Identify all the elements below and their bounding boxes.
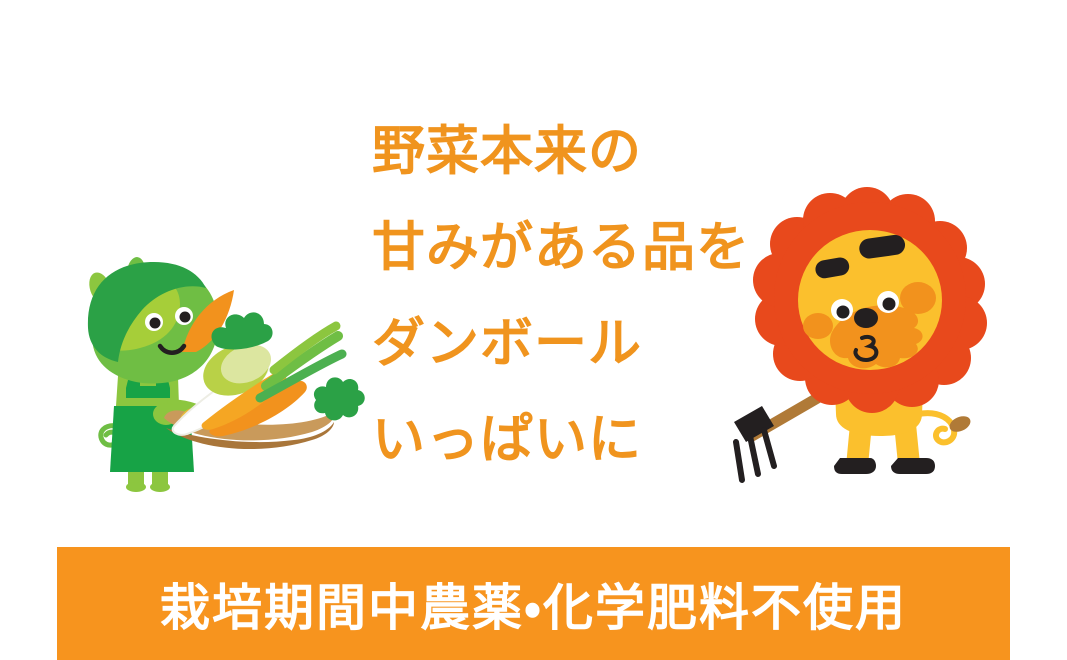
headline-line-2: 甘みがある品を: [372, 200, 792, 296]
bottom-banner: 栽培期間中農薬・化学肥料不使用: [57, 547, 1010, 660]
rhino-foot-left: [126, 482, 146, 492]
lion-boot-right: [891, 458, 935, 474]
lion-tail-tuft: [947, 413, 973, 435]
rhino-svg: [70, 250, 370, 500]
lion-pupil-left: [837, 306, 850, 319]
lion-cheek-left: [803, 313, 833, 339]
lion-boot-left: [834, 458, 876, 474]
rhino-pupil-right: [180, 312, 191, 323]
lion-tail: [918, 413, 954, 442]
headline-line-4: いっぱいに: [372, 392, 792, 488]
lion-nose: [854, 308, 878, 328]
headline-line-1: 野菜本来の: [372, 104, 792, 200]
rhino-foot-right: [150, 482, 170, 492]
headline-line-3: ダンボール: [372, 296, 792, 392]
headline-block: 野菜本来の 甘みがある品を ダンボール いっぱいに: [372, 104, 792, 488]
poster-root: 野菜本来の 甘みがある品を ダンボール いっぱいに 栽培期間中農薬・化学肥料不使…: [0, 0, 1067, 660]
rhino-pupil-left: [150, 318, 161, 329]
rhino-character-illustration: [70, 250, 370, 500]
banner-label: 栽培期間中農薬・化学肥料不使用: [160, 568, 907, 640]
lion-pupil-right: [883, 298, 896, 311]
vegetable-broccoli: [314, 377, 365, 420]
